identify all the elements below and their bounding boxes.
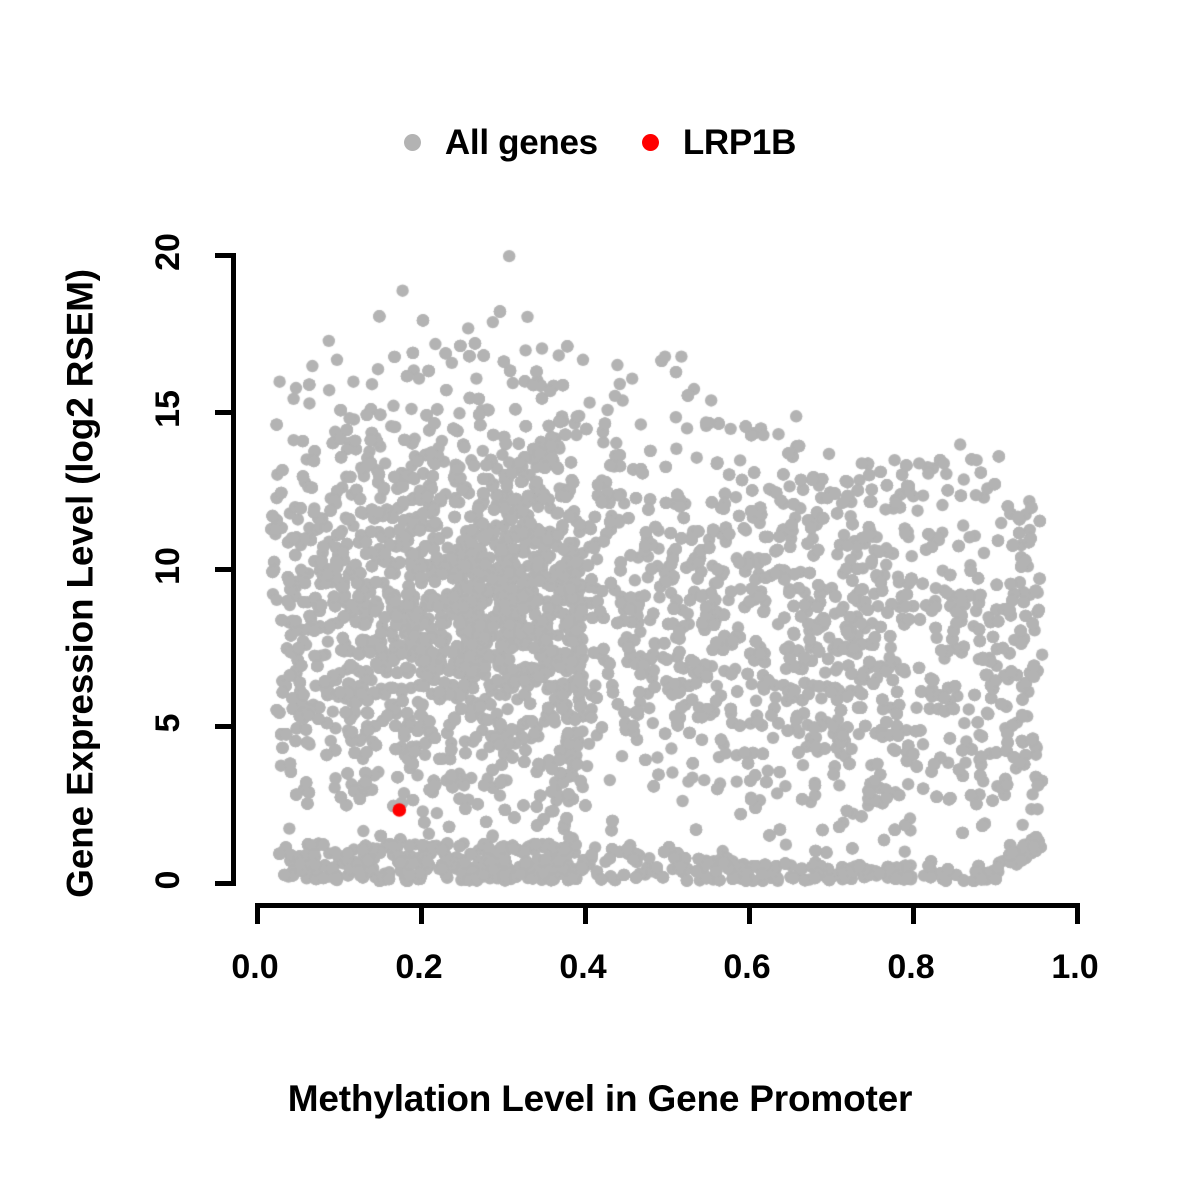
x-axis-line xyxy=(255,903,1080,908)
x-axis-tick-0 xyxy=(255,903,260,924)
x-axis-tick-4 xyxy=(911,903,916,924)
x-tick-label-2: 0.4 xyxy=(538,950,628,984)
x-axis-title: Methylation Level in Gene Promoter xyxy=(0,1080,1200,1117)
x-tick-label-1: 0.2 xyxy=(374,950,464,984)
x-tick-label-4: 0.8 xyxy=(866,950,956,984)
y-tick-label-0: 0 xyxy=(151,845,185,915)
y-axis-tick-0 xyxy=(215,881,236,886)
y-tick-label-2: 10 xyxy=(151,531,185,601)
x-tick-label-0: 0.0 xyxy=(210,950,300,984)
x-tick-label-3: 0.6 xyxy=(702,950,792,984)
y-axis-tick-2 xyxy=(215,567,236,572)
y-axis-tick-4 xyxy=(215,253,236,258)
x-axis-tick-5 xyxy=(1075,903,1080,924)
y-tick-label-3: 15 xyxy=(151,374,185,444)
x-tick-label-5: 1.0 xyxy=(1030,950,1120,984)
y-axis-tick-3 xyxy=(215,410,236,415)
chart-root: All genes LRP1B 0.00.20.40.60.81.0 05101… xyxy=(0,0,1200,1200)
x-axis-tick-3 xyxy=(747,903,752,924)
y-tick-label-4: 20 xyxy=(151,217,185,287)
x-axis-tick-1 xyxy=(419,903,424,924)
y-axis-tick-1 xyxy=(215,724,236,729)
y-tick-label-1: 5 xyxy=(151,688,185,758)
y-axis-title: Gene Expression Level (log2 RSEM) xyxy=(62,204,99,964)
plot-area: 0.00.20.40.60.81.0 05101520 xyxy=(0,0,1200,1200)
x-axis-tick-2 xyxy=(583,903,588,924)
